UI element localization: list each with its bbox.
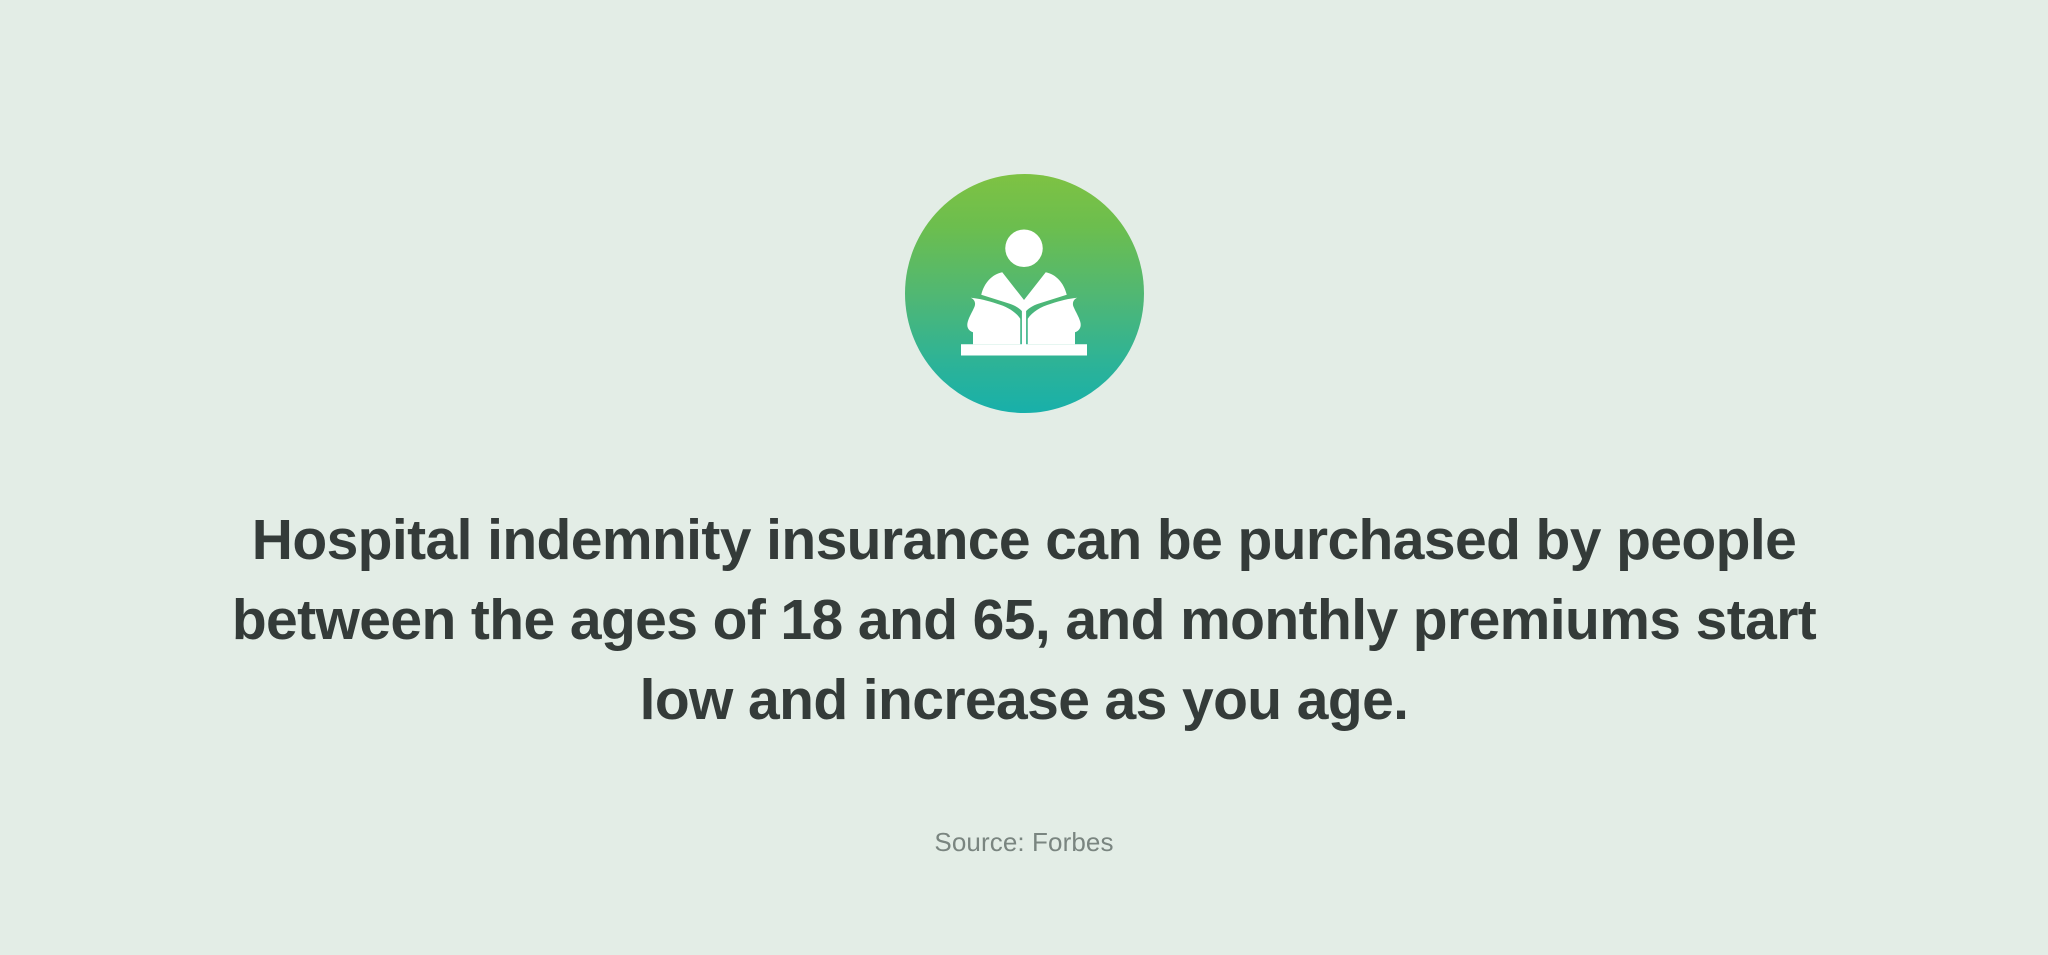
desk-base-bar (961, 344, 1087, 355)
slide-canvas: Hospital indemnity insurance can be purc… (0, 0, 2048, 955)
head-shape (1005, 229, 1043, 267)
book-right-page (1028, 297, 1081, 344)
page-title: Hospital indemnity insurance can be purc… (214, 500, 1834, 740)
person-reading-book-icon (905, 174, 1144, 413)
source-attribution: Source: Forbes (934, 825, 1113, 859)
book-left-page (967, 297, 1020, 344)
book-spine (1022, 309, 1026, 345)
